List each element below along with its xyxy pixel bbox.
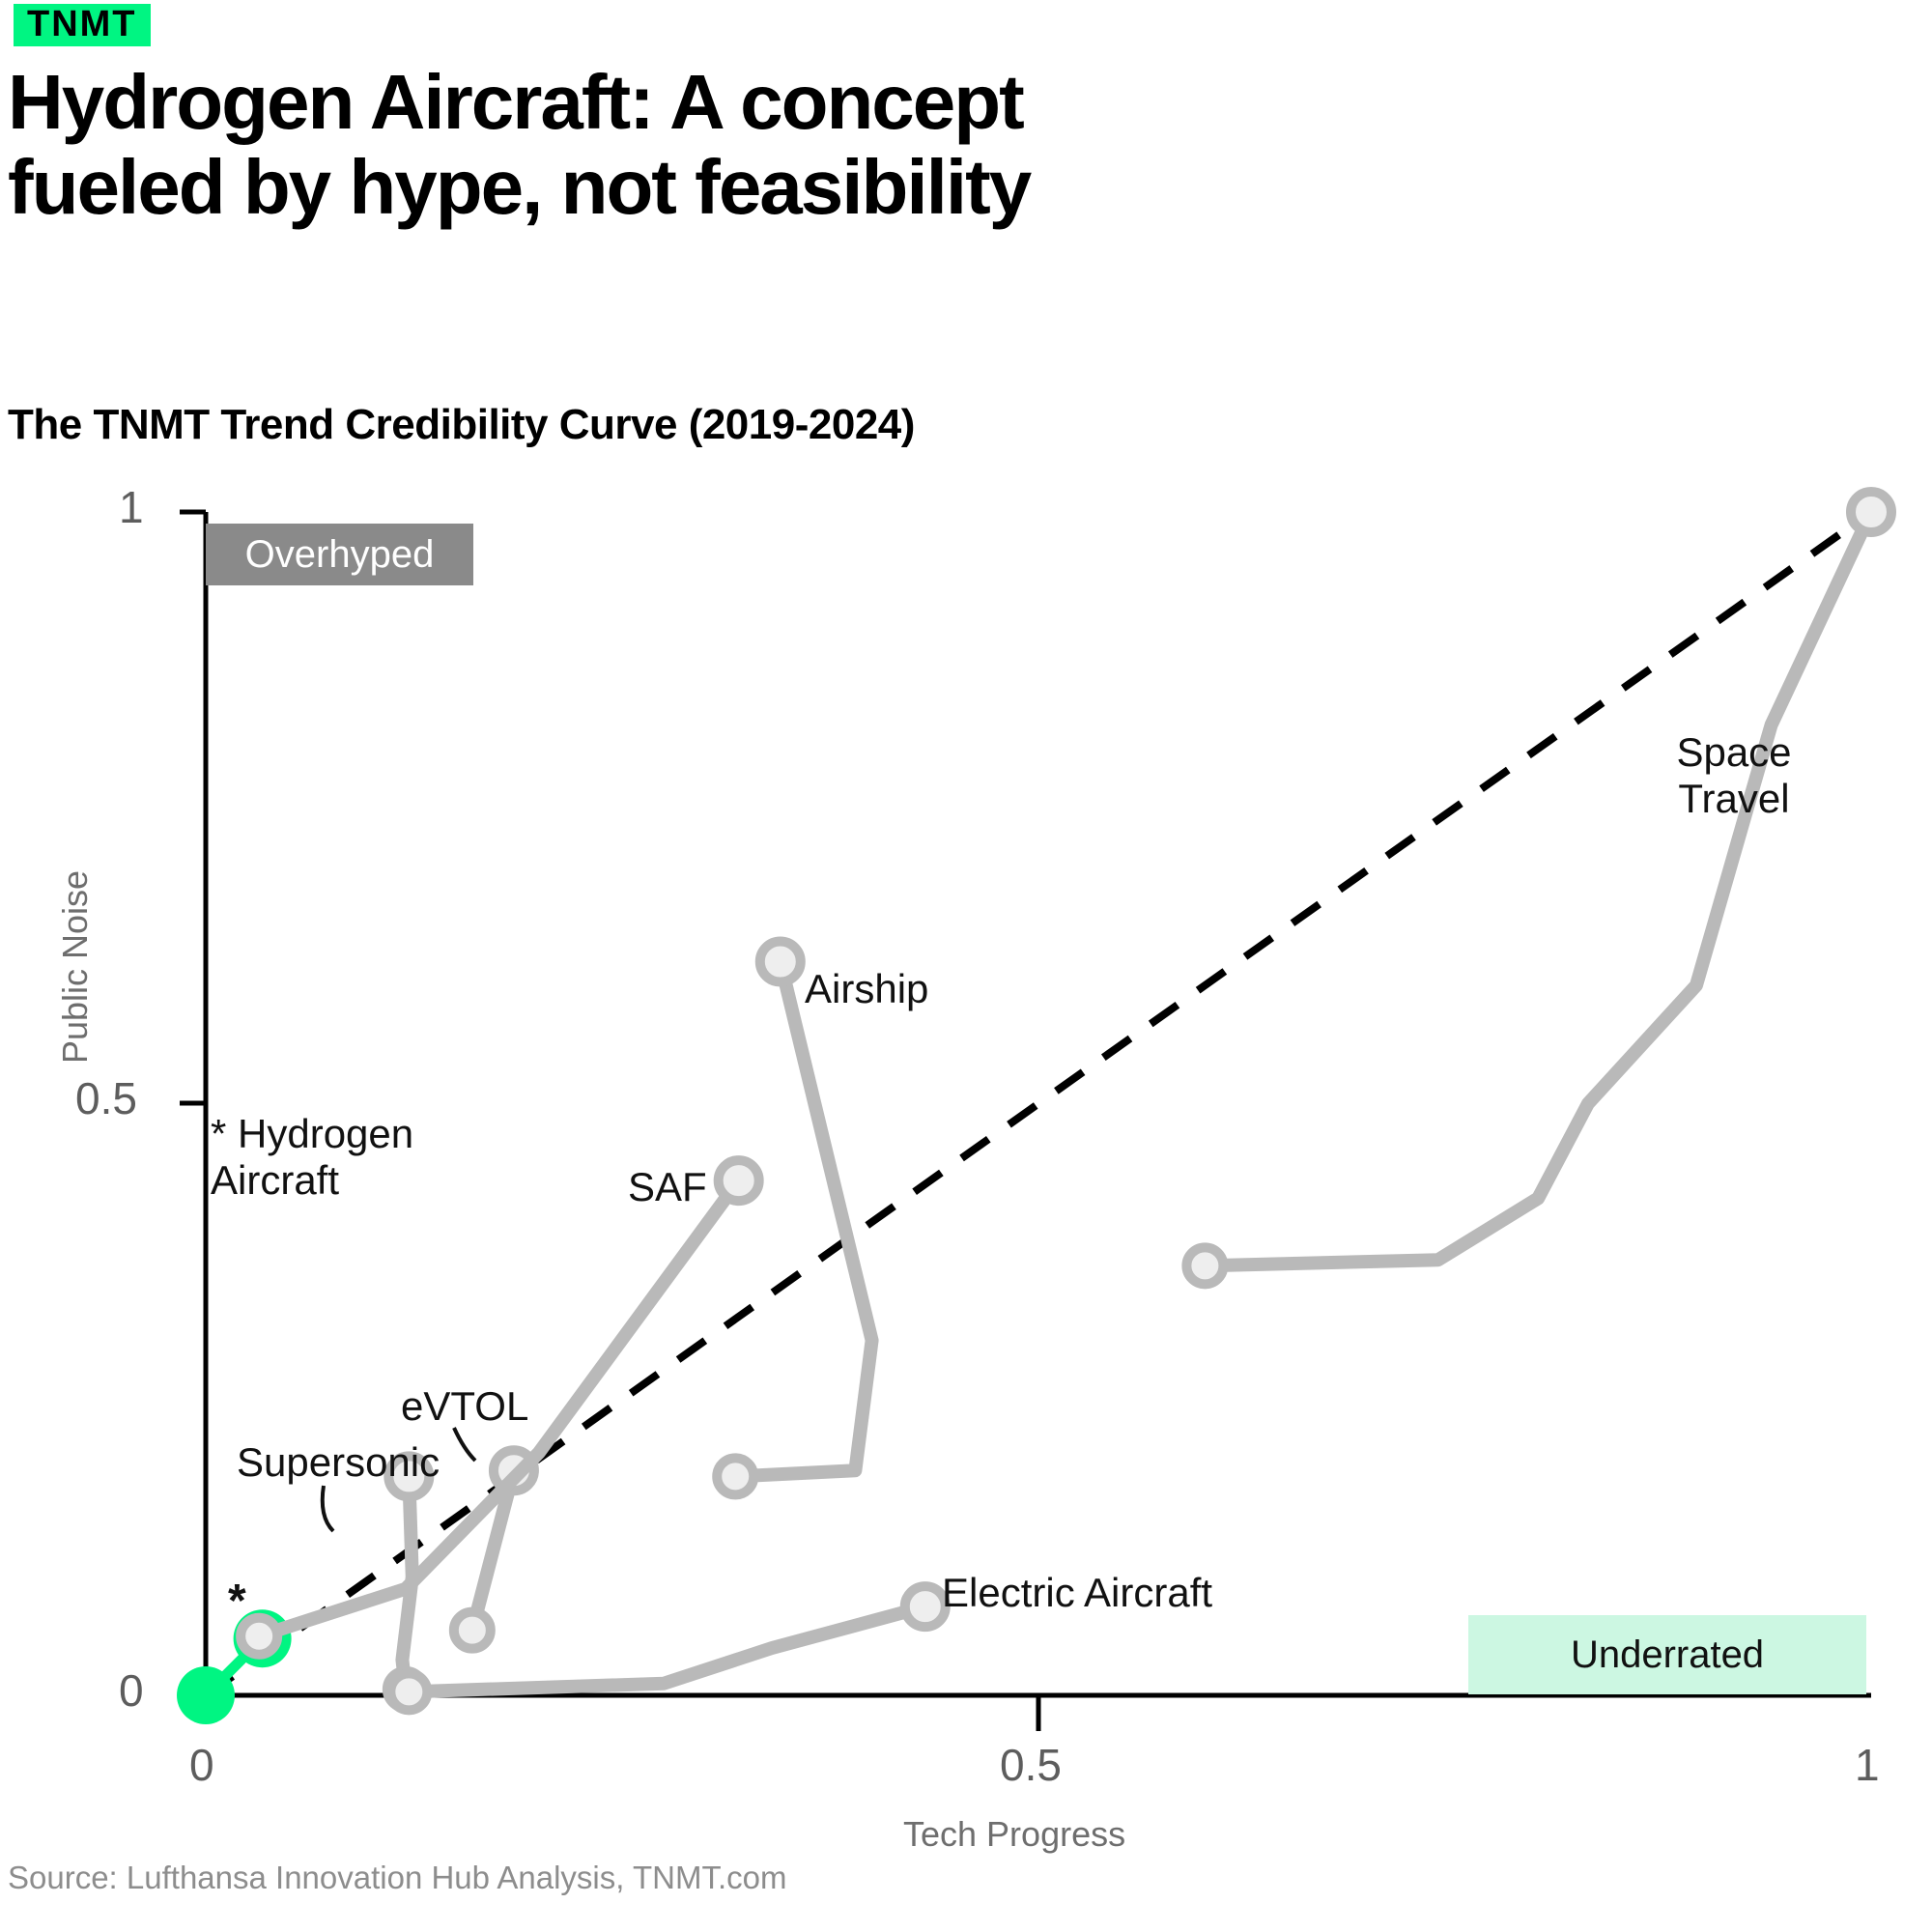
series-label-electric-aircraft: Electric Aircraft [942,1570,1212,1616]
hydrogen-annotation-line-1: * Hydrogen [211,1111,413,1157]
series-label-evtol: eVTOL [401,1383,528,1430]
hydrogen-aircraft-annotation: * Hydrogen Aircraft [211,1111,413,1204]
leader-line-supersonic [323,1486,333,1531]
data-point [905,1586,946,1627]
series-line [1205,512,1871,1265]
series-label-supersonic: Supersonic [237,1439,440,1486]
series-evtol [454,1450,534,1648]
underrated-badge: Underrated [1468,1615,1866,1694]
hydrogen-star-marker: * [228,1575,246,1628]
data-point [717,1458,753,1494]
x-tick-label-1: 1 [1855,1739,1880,1791]
data-point [454,1612,491,1649]
data-point [760,942,801,982]
source-note: Source: Lufthansa Innovation Hub Analysi… [8,1860,786,1896]
data-point [1851,492,1891,532]
series-label-airship: Airship [805,966,928,1012]
hydrogen-annotation-line-2: Aircraft [211,1157,413,1204]
series-space-travel [1186,492,1891,1284]
data-point [1186,1247,1223,1284]
y-tick-label-1: 1 [119,481,144,533]
x-tick-label-0point5: 0.5 [1000,1739,1062,1791]
overhyped-badge: Overhyped [206,524,473,585]
series-label-saf: SAF [628,1164,707,1210]
data-point [177,1666,235,1724]
series-label-space-travel: Space Travel [1642,729,1826,822]
x-tick-label-0: 0 [189,1739,214,1791]
y-tick-label-0: 0 [119,1664,144,1717]
parity-diagonal-line [206,512,1871,1695]
x-axis-title: Tech Progress [903,1814,1125,1855]
series-line [735,962,871,1477]
data-point [390,1673,427,1710]
leader-line-evtol [454,1428,475,1461]
data-point [719,1160,759,1201]
series-airship [717,942,871,1495]
y-axis-title: Public Noise [55,841,96,1093]
